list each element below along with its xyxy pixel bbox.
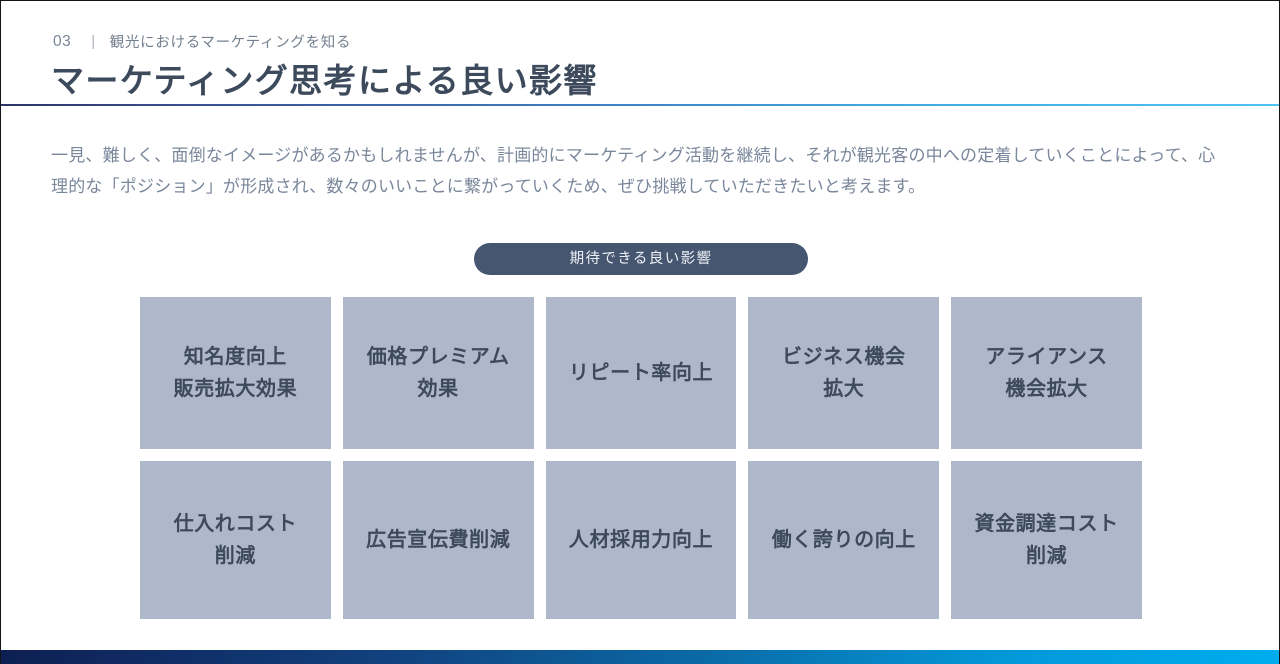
benefit-card: ビジネス機会 拡大 [748,297,939,449]
section-badge-row: 期待できる良い影響 [1,243,1280,275]
benefit-card: 働く誇りの向上 [748,461,939,619]
breadcrumb: 03 | 観光におけるマーケティングを知る [53,31,351,52]
footer-accent-bar [1,650,1280,664]
benefit-card: 仕入れコスト 削減 [140,461,331,619]
benefit-card: リピート率向上 [546,297,737,449]
header-divider [1,104,1280,106]
benefit-card: 人材採用力向上 [546,461,737,619]
benefit-card: アライアンス 機会拡大 [951,297,1142,449]
page-title: マーケティング思考による良い影響 [51,54,598,102]
slide-header: 03 | 観光におけるマーケティングを知る マーケティング思考による良い影響 [1,1,1280,105]
section-subtitle: 観光におけるマーケティングを知る [110,31,351,52]
benefit-card: 資金調達コスト 削減 [951,461,1142,619]
breadcrumb-separator: | [91,33,96,50]
benefit-card: 知名度向上 販売拡大効果 [140,297,331,449]
slide: 03 | 観光におけるマーケティングを知る マーケティング思考による良い影響 一… [0,0,1280,664]
benefit-card: 広告宣伝費削減 [343,461,534,619]
benefits-row-1: 知名度向上 販売拡大効果 価格プレミアム 効果 リピート率向上 ビジネス機会 拡… [140,297,1142,449]
status-badge: 期待できる良い影響 [474,243,808,275]
section-number: 03 [53,33,71,51]
benefit-card: 価格プレミアム 効果 [343,297,534,449]
benefits-row-2: 仕入れコスト 削減 広告宣伝費削減 人材採用力向上 働く誇りの向上 資金調達コス… [140,461,1142,619]
lead-paragraph: 一見、難しく、面倒なイメージがあるかもしれませんが、計画的にマーケティング活動を… [51,140,1231,202]
benefits-grid: 知名度向上 販売拡大効果 価格プレミアム 効果 リピート率向上 ビジネス機会 拡… [140,297,1142,619]
